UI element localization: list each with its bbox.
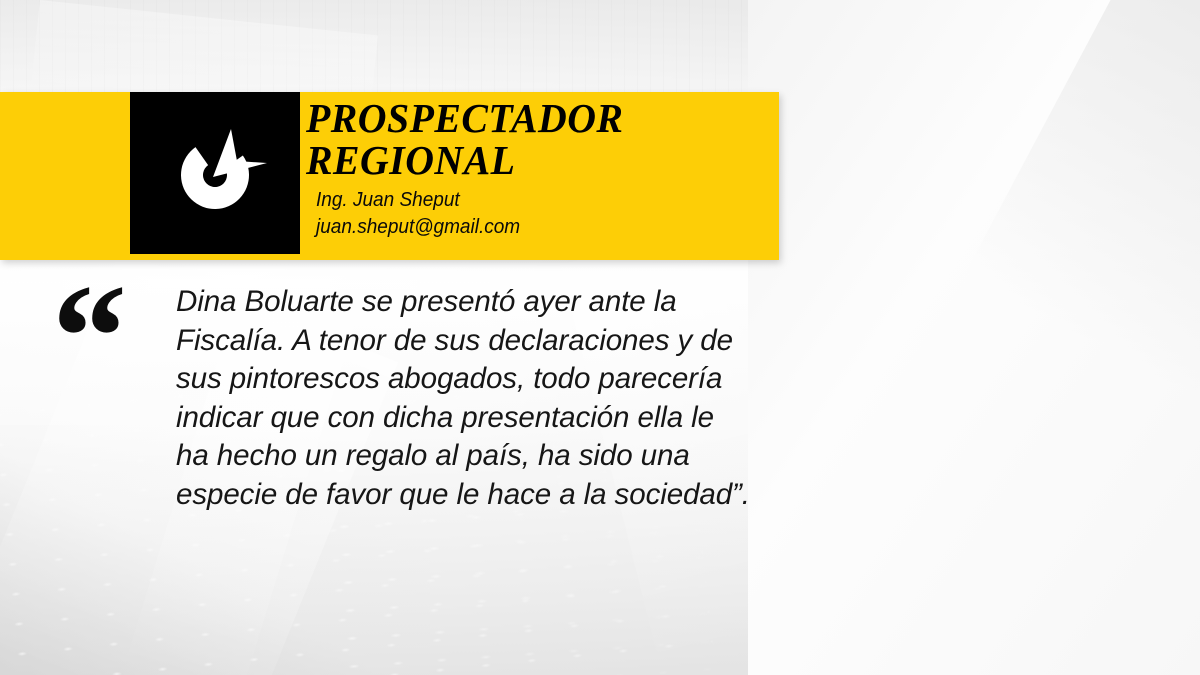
byline: Ing. Juan Sheput juan.sheput@gmail.com <box>306 187 773 241</box>
masthead-text-block: PROSPECTADOR REGIONAL Ing. Juan Sheput j… <box>306 98 773 241</box>
publication-title-line2: REGIONAL <box>306 140 759 180</box>
author-name: Ing. Juan Sheput <box>316 187 750 214</box>
quote-line: sus pintorescos abogados, todo parecería <box>176 360 728 399</box>
quote-line: ha hecho un regalo al país, ha sido una <box>176 437 728 476</box>
portrait-photo <box>748 0 1200 675</box>
quote-text: Dina Boluarte se presentó ayer ante la F… <box>176 283 736 514</box>
logo-container <box>130 92 300 254</box>
masthead-banner: PROSPECTADOR REGIONAL Ing. Juan Sheput j… <box>0 92 779 260</box>
author-email[interactable]: juan.sheput@gmail.com <box>316 214 750 241</box>
quote-line: Dina Boluarte se presentó ayer ante la <box>176 283 728 322</box>
quote-line: Fiscalía. A tenor de sus declaraciones y… <box>176 322 728 361</box>
publication-title-line1: PROSPECTADOR <box>306 98 759 138</box>
quote-line: especie de favor que le hace a la socied… <box>176 476 728 515</box>
open-quote-icon: “ <box>52 262 127 412</box>
circular-arrow-logo-icon <box>155 117 275 229</box>
poster-canvas: PROSPECTADOR REGIONAL Ing. Juan Sheput j… <box>0 0 1200 675</box>
quote-line: indicar que con dicha presentación ella … <box>176 399 728 438</box>
